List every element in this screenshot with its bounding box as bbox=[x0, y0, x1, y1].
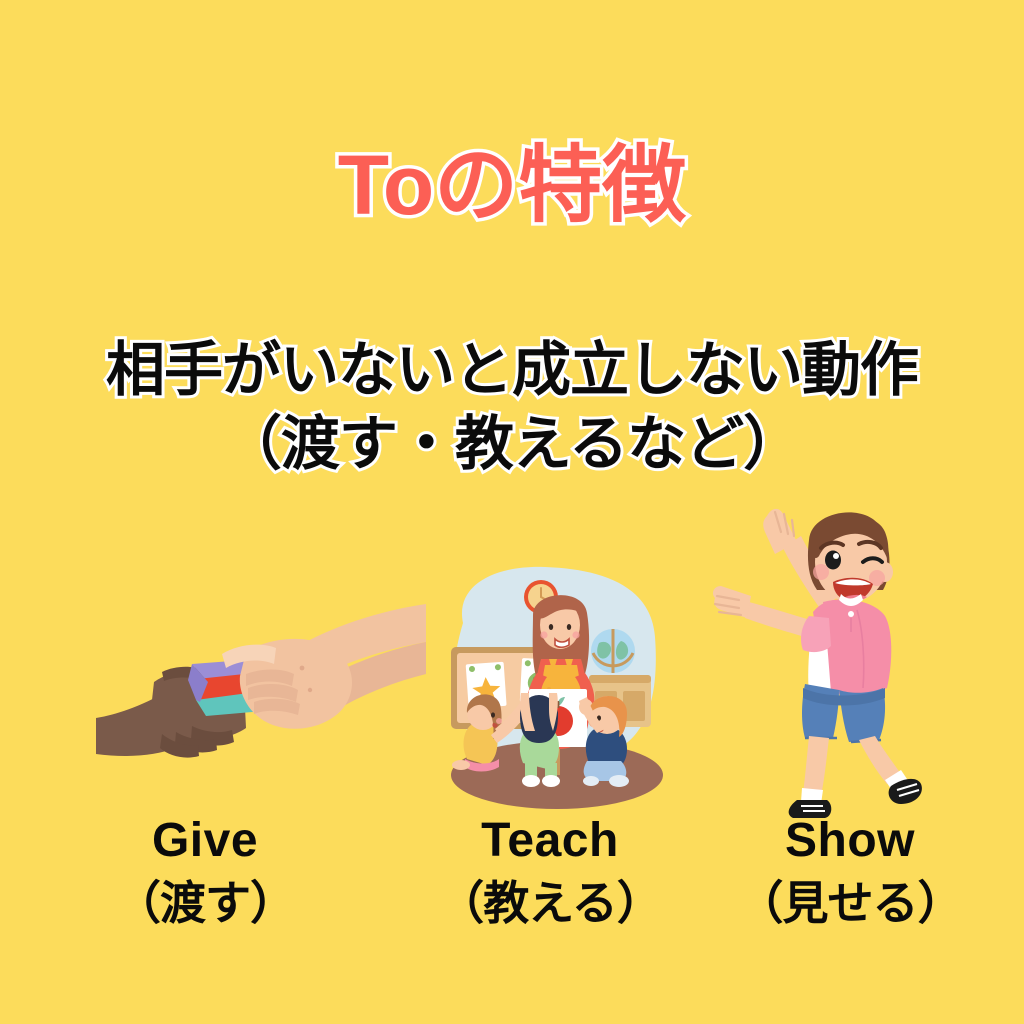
subtitle-block: 相手がいないと成立しない動作 （渡す・教えるなど） bbox=[0, 337, 1024, 477]
page-title: Toの特徴 bbox=[0, 143, 1024, 227]
hands-passing-books-icon bbox=[96, 576, 426, 806]
caption-show-en: Show bbox=[680, 813, 1020, 870]
boy-waving-icon bbox=[705, 498, 955, 828]
caption-teach-jp: （教える） bbox=[380, 876, 720, 930]
subtitle-line-1: 相手がいないと成立しない動作 bbox=[0, 337, 1024, 403]
slide-canvas: Toの特徴 相手がいないと成立しない動作 （渡す・教えるなど） bbox=[0, 0, 1024, 1024]
illustration-teach bbox=[437, 563, 677, 811]
illustration-show bbox=[705, 498, 955, 828]
subtitle-line-2: （渡す・教えるなど） bbox=[0, 411, 1024, 477]
caption-give: Give （渡す） bbox=[35, 813, 375, 930]
caption-teach: Teach （教える） bbox=[380, 813, 720, 930]
caption-show-jp: （見せる） bbox=[680, 876, 1020, 930]
caption-show: Show （見せる） bbox=[680, 813, 1020, 930]
caption-give-jp: （渡す） bbox=[35, 876, 375, 930]
teacher-with-children-icon bbox=[437, 563, 677, 811]
caption-give-en: Give bbox=[35, 813, 375, 870]
illustration-give bbox=[96, 576, 426, 806]
caption-teach-en: Teach bbox=[380, 813, 720, 870]
